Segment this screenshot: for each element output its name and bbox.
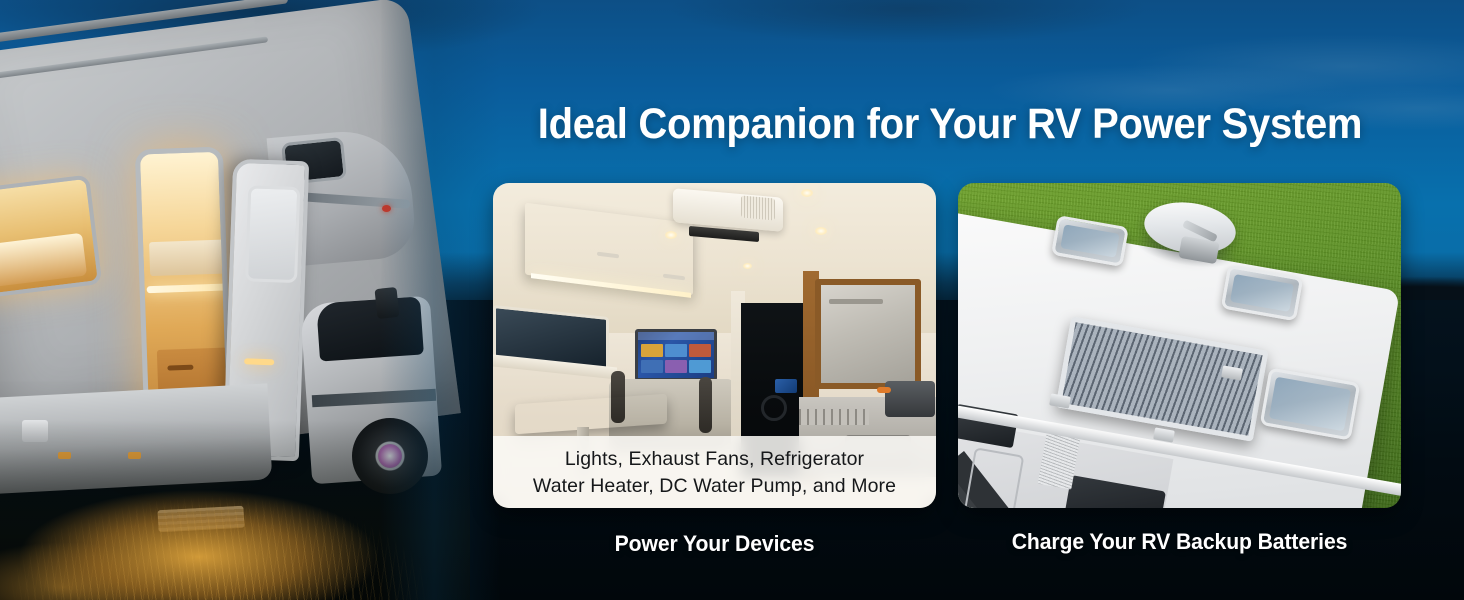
refrigerator <box>815 279 921 389</box>
skylight-glass <box>1269 377 1351 432</box>
caption-charge-rv-backup-batteries: Charge Your RV Backup Batteries <box>971 528 1387 556</box>
overlay-line-1: Lights, Exhaust Fans, Refrigerator <box>565 447 864 471</box>
interior-led-strip <box>147 283 231 293</box>
tv-thumbnail <box>689 344 711 357</box>
tv-menu-bar <box>638 332 714 340</box>
tv-thumbnail <box>641 360 663 373</box>
card-charge-rv-backup-batteries <box>958 183 1401 508</box>
tv-thumbnail <box>641 344 663 357</box>
rv-door-window <box>245 185 300 283</box>
ac-vent-grille <box>741 196 775 221</box>
recessed-downlight <box>743 263 752 269</box>
rv-roof-solar-panel-photo <box>958 183 1401 508</box>
pot-handle <box>877 387 891 393</box>
rv-door-lamp <box>244 358 274 365</box>
interior-drawer-handle <box>167 365 193 371</box>
interior-cabinet <box>149 240 226 277</box>
wall-mounted-tv <box>635 329 717 381</box>
recessed-downlight <box>801 189 813 197</box>
refrigerator-handle <box>829 299 883 304</box>
vent-glass <box>1230 274 1294 312</box>
tv-thumbnail-row <box>641 360 711 373</box>
gas-stove <box>799 409 869 425</box>
vent-glass <box>1060 224 1119 257</box>
steering-wheel <box>761 395 787 421</box>
sofa-armrest <box>699 377 712 433</box>
caption-power-your-devices: Power Your Devices <box>506 530 922 558</box>
recessed-downlight <box>665 231 677 239</box>
cooking-pot <box>885 381 935 417</box>
card-power-your-devices: Lights, Exhaust Fans, Refrigerator Water… <box>493 183 936 508</box>
overlay-line-2: Water Heater, DC Water Pump, and More <box>533 474 896 498</box>
tv-thumbnail <box>665 360 687 373</box>
tv-thumbnail <box>665 344 687 357</box>
tv-thumbnail <box>689 360 711 373</box>
tv-thumbnail-row <box>641 344 711 357</box>
card-caption-overlay: Lights, Exhaust Fans, Refrigerator Water… <box>493 436 936 508</box>
photo-sky-blend <box>380 0 500 600</box>
page-title: Ideal Companion for Your RV Power System <box>504 98 1397 150</box>
recessed-downlight <box>815 227 827 235</box>
rv-lit-window <box>0 174 102 299</box>
promo-banner: Ideal Companion for Your RV Power System <box>0 0 1464 600</box>
dashboard-screen <box>775 379 797 393</box>
